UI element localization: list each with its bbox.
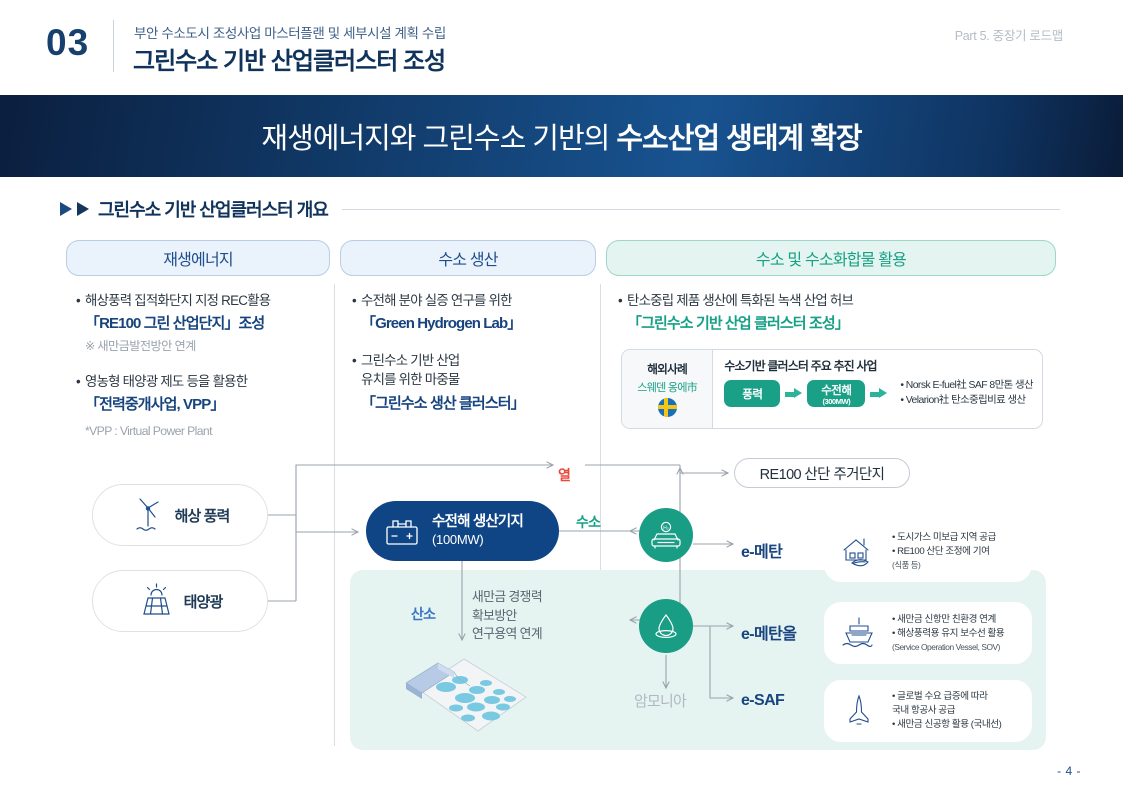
use-bullet-1: • 새만금 신항만 친환경 연계 bbox=[892, 613, 1004, 627]
hydrogen-car-icon: H₂ bbox=[649, 520, 683, 550]
use-bullet-2: • 해상풍력용 유지 보수선 활용 bbox=[892, 627, 1004, 641]
bullet-dot: • bbox=[618, 291, 627, 310]
banner-emphasis: 수소산업 생태계 확장 bbox=[616, 115, 861, 157]
bullet-dot: • bbox=[76, 291, 85, 310]
title-banner: 재생에너지와 그린수소 기반의 수소산업 생태계 확장 bbox=[0, 95, 1123, 177]
bullet-emphasis: 「RE100 그린 산업단지」조성 bbox=[76, 312, 328, 333]
arrow-right-icon bbox=[785, 388, 802, 399]
case-city: 스웨덴 옹에市 bbox=[637, 379, 697, 395]
bullet-note: ※ 새만금발전방안 연계 bbox=[76, 336, 328, 354]
production-text-block: • 수전해 분야 실증 연구를 위한 「Green Hydrogen Lab」 … bbox=[352, 291, 592, 413]
slide-number: 03 bbox=[46, 22, 89, 64]
bullet-item: • 해상풍력 집적화단지 지정 REC활용 bbox=[76, 291, 328, 310]
bullet-item: • 그린수소 기반 산업 bbox=[352, 351, 592, 370]
bullet-dot: • bbox=[76, 372, 85, 391]
category-utilization: 수소 및 수소화합물 활용 bbox=[606, 240, 1056, 276]
use-bullet-sub: (식품 등) bbox=[892, 559, 996, 571]
use-card-bullets: • 글로벌 수요 급증에 따라 국내 항공사 공급 • 새만금 신공항 활용 (… bbox=[892, 690, 1001, 732]
section-heading: 그린수소 기반 산업클러스터 개요 bbox=[60, 196, 1060, 222]
bullet-text-cont: 유치를 위한 마중물 bbox=[352, 370, 592, 389]
bullet-text: 수전해 분야 실증 연구를 위한 bbox=[361, 291, 512, 310]
chip-label: 수전해 bbox=[821, 382, 851, 398]
bullet-dot: • bbox=[352, 351, 361, 370]
use-bullet-3: • 새만금 신공항 활용 (국내선) bbox=[892, 718, 1001, 732]
node-label: 해상 풍력 bbox=[175, 505, 230, 526]
product-label-emethane: e-메탄 bbox=[741, 538, 782, 562]
bullet-emphasis: 「전력중개사업, VPP」 bbox=[76, 393, 328, 414]
arrow-right-icon-2 bbox=[870, 388, 887, 399]
chip-sublabel: (300MW) bbox=[822, 397, 850, 406]
chip-label: 풍력 bbox=[742, 386, 762, 402]
case-flow: 풍력 수전해 (300MW) • Norsk E-fuel社 SAF 8만톤 생… bbox=[724, 379, 1033, 409]
header-divider bbox=[113, 20, 114, 72]
bullet-item: • 수전해 분야 실증 연구를 위한 bbox=[352, 291, 592, 310]
node-re100-residential[interactable]: RE100 산단 주거단지 bbox=[734, 458, 910, 488]
page-number: - 4 - bbox=[1057, 764, 1081, 778]
slide-header: 03 부안 수소도시 조성사업 마스터플랜 및 세부시설 계획 수립 그린수소 … bbox=[0, 0, 1123, 95]
note-line-2: 확보방안 bbox=[472, 607, 542, 626]
section-rule bbox=[342, 209, 1060, 210]
flow-label-heat: 열 bbox=[558, 465, 570, 485]
part-label: Part 5. 중장기 로드맵 bbox=[955, 25, 1063, 44]
flow-label-hydrogen: 수소 bbox=[576, 512, 600, 532]
electrolysis-label-group: 수전해 생산기지 (100MW) bbox=[432, 514, 523, 548]
note-line-3: 연구용역 연계 bbox=[472, 625, 542, 644]
renewable-text-block: • 해상풍력 집적화단지 지정 REC활용 「RE100 그린 산업단지」조성 … bbox=[76, 291, 328, 438]
bullet-item: • 탄소중립 제품 생산에 특화된 녹색 산업 허브 bbox=[618, 291, 1048, 310]
bullet-item: • 영농형 태양광 제도 등을 활용한 bbox=[76, 372, 328, 391]
bullet-emphasis: 「그린수소 기반 산업 클러스터 조성」 bbox=[618, 312, 1048, 333]
svg-text:H₂: H₂ bbox=[663, 526, 669, 532]
airplane-icon bbox=[838, 692, 880, 730]
vpp-footnote: *VPP : Virtual Power Plant bbox=[76, 424, 328, 438]
node-hydrogen-compound[interactable] bbox=[639, 599, 693, 653]
node-offshore-wind[interactable]: 해상 풍력 bbox=[92, 484, 268, 546]
use-bullet-2: • RE100 산단 조정에 기여 bbox=[892, 545, 996, 559]
use-card-emethane[interactable]: • 도시가스 미보급 지역 공급 • RE100 산단 조정에 기여 (식품 등… bbox=[824, 520, 1032, 582]
utilization-text-block: • 탄소중립 제품 생산에 특화된 녹색 산업 허브 「그린수소 기반 산업 클… bbox=[618, 291, 1048, 333]
case-chip-wind: 풍력 bbox=[724, 380, 780, 407]
case-title: 해외사례 bbox=[647, 361, 687, 377]
node-solar[interactable]: 태양광 bbox=[92, 570, 268, 632]
flow-label-oxygen: 산소 bbox=[411, 604, 435, 624]
case-heading: 수소기반 클러스터 주요 추진 사업 bbox=[724, 357, 1033, 374]
bullet-text: 해상풍력 집적화단지 지정 REC활용 bbox=[85, 291, 270, 310]
node-hydrogen-vehicle[interactable]: H₂ bbox=[639, 508, 693, 562]
house-leaf-icon bbox=[838, 533, 880, 569]
node-electrolysis-plant[interactable]: 수전해 생산기지 (100MW) bbox=[366, 501, 559, 561]
bullet-emphasis: 「그린수소 생산 클러스터」 bbox=[352, 392, 592, 413]
node-title: 수전해 생산기지 bbox=[432, 514, 523, 531]
banner-text: 재생에너지와 그린수소 기반의 수소산업 생태계 확장 bbox=[0, 95, 1123, 177]
use-card-esaf[interactable]: • 글로벌 수요 급증에 따라 국내 항공사 공급 • 새만금 신공항 활용 (… bbox=[824, 680, 1032, 742]
banner-lead: 재생에너지와 그린수소 기반의 bbox=[261, 115, 609, 157]
use-bullet-2: 국내 항공사 공급 bbox=[892, 704, 1001, 718]
category-production: 수소 생산 bbox=[340, 240, 596, 276]
node-label: 태양광 bbox=[184, 591, 223, 612]
case-right-panel: 수소기반 클러스터 주요 추진 사업 풍력 수전해 (300MW) • Nors… bbox=[713, 350, 1042, 428]
bullet-emphasis: 「Green Hydrogen Lab」 bbox=[352, 312, 592, 333]
bullet-dot: • bbox=[352, 291, 361, 310]
triangle-icon bbox=[60, 202, 72, 216]
overseas-case-box: 해외사례 스웨덴 옹에市 수소기반 클러스터 주요 추진 사업 풍력 수전해 (… bbox=[621, 349, 1043, 429]
node-capacity: (100MW) bbox=[432, 532, 523, 548]
product-label-emethanol: e-메탄올 bbox=[741, 620, 796, 644]
triangle-icon-2 bbox=[77, 202, 89, 216]
header-subtitle: 부안 수소도시 조성사업 마스터플랜 및 세부시설 계획 수립 bbox=[134, 22, 446, 42]
bullet-text: 탄소중립 제품 생산에 특화된 녹색 산업 허브 bbox=[627, 291, 853, 310]
wind-turbine-icon bbox=[131, 496, 165, 534]
case-bullet-1: • Norsk E-fuel社 SAF 8만톤 생산 bbox=[900, 379, 1033, 394]
use-card-bullets: • 새만금 신항만 친환경 연계 • 해상풍력용 유지 보수선 활용 (Serv… bbox=[892, 613, 1004, 653]
sweden-flag-icon bbox=[658, 398, 677, 417]
ship-icon bbox=[838, 614, 880, 652]
use-card-bullets: • 도시가스 미보급 지역 공급 • RE100 산단 조정에 기여 (식품 등… bbox=[892, 531, 996, 571]
page-title: 그린수소 기반 산업클러스터 조성 bbox=[133, 41, 445, 76]
electrolyzer-icon bbox=[382, 513, 422, 549]
electrolysis-plant-illustration bbox=[398, 645, 533, 735]
case-bullet-2: • Velarion社 탄소중립비료 생산 bbox=[900, 394, 1033, 409]
category-renewable: 재생에너지 bbox=[66, 240, 330, 276]
product-label-esaf: e-SAF bbox=[741, 692, 784, 710]
flow-label-ammonia: 암모니아 bbox=[634, 690, 686, 711]
solar-panel-icon bbox=[138, 582, 174, 620]
note-line-1: 새만금 경쟁력 bbox=[472, 588, 542, 607]
flow-diagram: 해상 풍력 태양광 수전해 생산기지 (100MW) 열 bbox=[0, 440, 1123, 770]
use-card-emethanol[interactable]: • 새만금 신항만 친환경 연계 • 해상풍력용 유지 보수선 활용 (Serv… bbox=[824, 602, 1032, 664]
use-bullet-sub: (Service Operation Vessel, SOV) bbox=[892, 641, 1004, 653]
bullet-text: 영농형 태양광 제도 등을 활용한 bbox=[85, 372, 247, 391]
bullet-text: 그린수소 기반 산업 bbox=[361, 351, 460, 370]
saemangeum-note: 새만금 경쟁력 확보방안 연구용역 연계 bbox=[472, 588, 542, 644]
section-title: 그린수소 기반 산업클러스터 개요 bbox=[98, 196, 328, 222]
case-left-panel: 해외사례 스웨덴 옹에市 bbox=[622, 350, 713, 428]
water-drop-icon bbox=[650, 610, 682, 642]
case-chip-electrolysis: 수전해 (300MW) bbox=[807, 380, 865, 407]
use-bullet-1: • 도시가스 미보급 지역 공급 bbox=[892, 531, 996, 545]
case-bullets: • Norsk E-fuel社 SAF 8만톤 생산 • Velarion社 탄… bbox=[900, 379, 1033, 409]
use-bullet-1: • 글로벌 수요 급증에 따라 bbox=[892, 690, 1001, 704]
